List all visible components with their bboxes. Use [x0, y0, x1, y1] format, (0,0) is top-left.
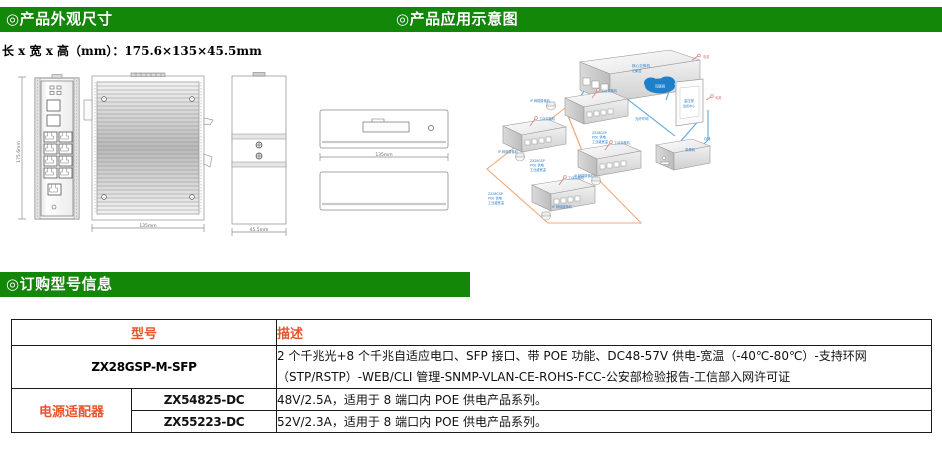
- cell-adapter-model: ZX54825-DC: [132, 389, 277, 411]
- table-row: ZX28GSP-M-SFP 2 个千兆光+8 个千兆自适应电口、SFP 接口、带…: [12, 346, 932, 389]
- description-line-2: （STP/RSTP）-WEB/CLI 管理-SNMP-VLAN-CE-ROHS-…: [277, 367, 931, 388]
- top-view-width-label: 135mm: [375, 152, 392, 158]
- table-row: 电源适配器 ZX54825-DC 48V/2.5A，适用于 8 端口内 POE …: [12, 389, 932, 411]
- monitoring-display: 监控室 监控中心 电源: [676, 79, 722, 126]
- ip-camera-label: IP 网络摄像机: [552, 204, 573, 209]
- dimension-text-label: 长 x 宽 x 高（mm）：175.6×135×45.5mm: [2, 44, 262, 58]
- drawing-top-bottom-views: 135mm: [320, 110, 448, 210]
- section-header-ordering-label: ◎订购型号信息: [6, 275, 113, 293]
- drawing-heatsink-view: 135mm: [84, 73, 213, 232]
- core-switch-sublabel: 汇聚层: [632, 68, 642, 73]
- product-datasheet-page: ◎产品外观尺寸 ◎产品应用示意图 长 x 宽 x 高（mm）：175.6×135…: [0, 0, 942, 466]
- monitoring-display-power-label: 电源: [715, 95, 722, 100]
- mechanical-drawings: 175.6mm: [0, 62, 470, 242]
- monitoring-display-label: 监控室: [684, 98, 695, 103]
- drawing-side-view: 45.5mm: [232, 73, 286, 237]
- cell-adapter-description: 52V/2.3A，适用于 8 端口内 POE 供电产品系列。: [277, 411, 932, 433]
- section-header-dimensions-label: ◎产品外观尺寸: [6, 10, 113, 28]
- edge-switch-note3: 工业级宽温: [488, 200, 505, 205]
- section-header-application-label: ◎产品应用示意图: [396, 10, 518, 28]
- edge-switch-note1: ZX28GSP: [488, 192, 503, 196]
- ip-camera-label: IP 网络摄像机: [574, 173, 595, 178]
- section-header-ordering: ◎订购型号信息: [0, 272, 470, 297]
- ordering-table: 型号 描述 ZX28GSP-M-SFP 2 个千兆光+8 个千兆自适应电口、SF…: [11, 319, 932, 433]
- console-port: [48, 184, 61, 195]
- nvr-recorder-device: 录像机 存储: [656, 136, 711, 170]
- monitoring-display-sublabel: 监控中心: [683, 103, 695, 108]
- edge-switch-note3: 工业级宽温: [530, 167, 547, 172]
- section-header-application: ◎产品应用示意图: [390, 7, 942, 32]
- edge-switch-device: 工业交换机: [578, 140, 641, 176]
- drawing-front-panel: 175.6mm: [16, 75, 79, 220]
- ip-camera-device: IP 网络摄像机: [530, 98, 556, 110]
- header-cell-model: 型号: [12, 320, 277, 346]
- width-dimension-label: 135mm: [139, 223, 156, 229]
- cell-adapter-description: 48V/2.5A，适用于 8 端口内 POE 供电产品系列。: [277, 389, 932, 411]
- edge-switch-note2: POE 供电: [530, 163, 545, 168]
- core-switch-label: 核心交换机: [632, 63, 650, 68]
- edge-switch-label: 工业交换机: [614, 140, 631, 145]
- edge-switch-device: 工业交换机 ZX28GSP POE 供电 工业级宽温: [565, 88, 628, 144]
- edge-switch-note2: POE 供电: [488, 196, 503, 201]
- internet-cloud-label: 互联网: [655, 84, 666, 89]
- edge-switch-label: 工业交换机: [539, 116, 556, 121]
- edge-switch-note2: POE 供电: [592, 135, 607, 140]
- depth-dimension-label: 45.5mm: [250, 227, 269, 233]
- edge-switch-device: 工业交换机 ZX28GSP POE 供电 工业级宽温: [488, 175, 595, 211]
- cell-adapter-model: ZX55223-DC: [132, 411, 277, 433]
- table-header-row: 型号 描述: [12, 320, 932, 346]
- edge-switch-label: 工业交换机: [601, 88, 618, 93]
- edge-switch-device: 工业交换机 ZX28GSP POE 供电 工业级宽温: [503, 116, 566, 172]
- nvr-recorder-sublabel: 存储: [704, 136, 711, 141]
- dimension-text: 长 x 宽 x 高（mm）：175.6×135×45.5mm: [2, 42, 262, 59]
- fiber-ring-annotation: 光纤环网: [635, 116, 649, 121]
- table-row: ZX55223-DC 52V/2.3A，适用于 8 端口内 POE 供电产品系列…: [12, 411, 932, 433]
- edge-switch-note1: ZX28GSP: [530, 159, 545, 163]
- description-line-1: 2 个千兆光+8 个千兆自适应电口、SFP 接口、带 POE 功能、DC48-5…: [277, 346, 931, 367]
- cell-main-model: ZX28GSP-M-SFP: [12, 346, 277, 389]
- nvr-recorder-label: 录像机: [685, 147, 696, 152]
- cell-main-description: 2 个千兆光+8 个千兆自适应电口、SFP 接口、带 POE 功能、DC48-5…: [277, 346, 932, 389]
- edge-switch-note1: ZX28GSP: [592, 131, 607, 135]
- core-switch-power-label: 电源: [703, 54, 710, 59]
- ip-camera-label: IP 网络摄像机: [530, 98, 551, 103]
- ip-camera-label: IP 网络摄像机: [498, 149, 519, 154]
- ordering-table-wrapper: 型号 描述 ZX28GSP-M-SFP 2 个千兆光+8 个千兆自适应电口、SF…: [11, 319, 931, 433]
- cell-adapter-group-label: 电源适配器: [12, 389, 132, 433]
- header-cell-description: 描述: [277, 320, 932, 346]
- height-dimension-label: 175.6mm: [16, 141, 22, 163]
- application-topology-diagram: 核心交换机 汇聚层 电源 互联网 监控室 监控中心: [470, 40, 942, 245]
- edge-switch-note3: 工业级宽温: [592, 139, 609, 144]
